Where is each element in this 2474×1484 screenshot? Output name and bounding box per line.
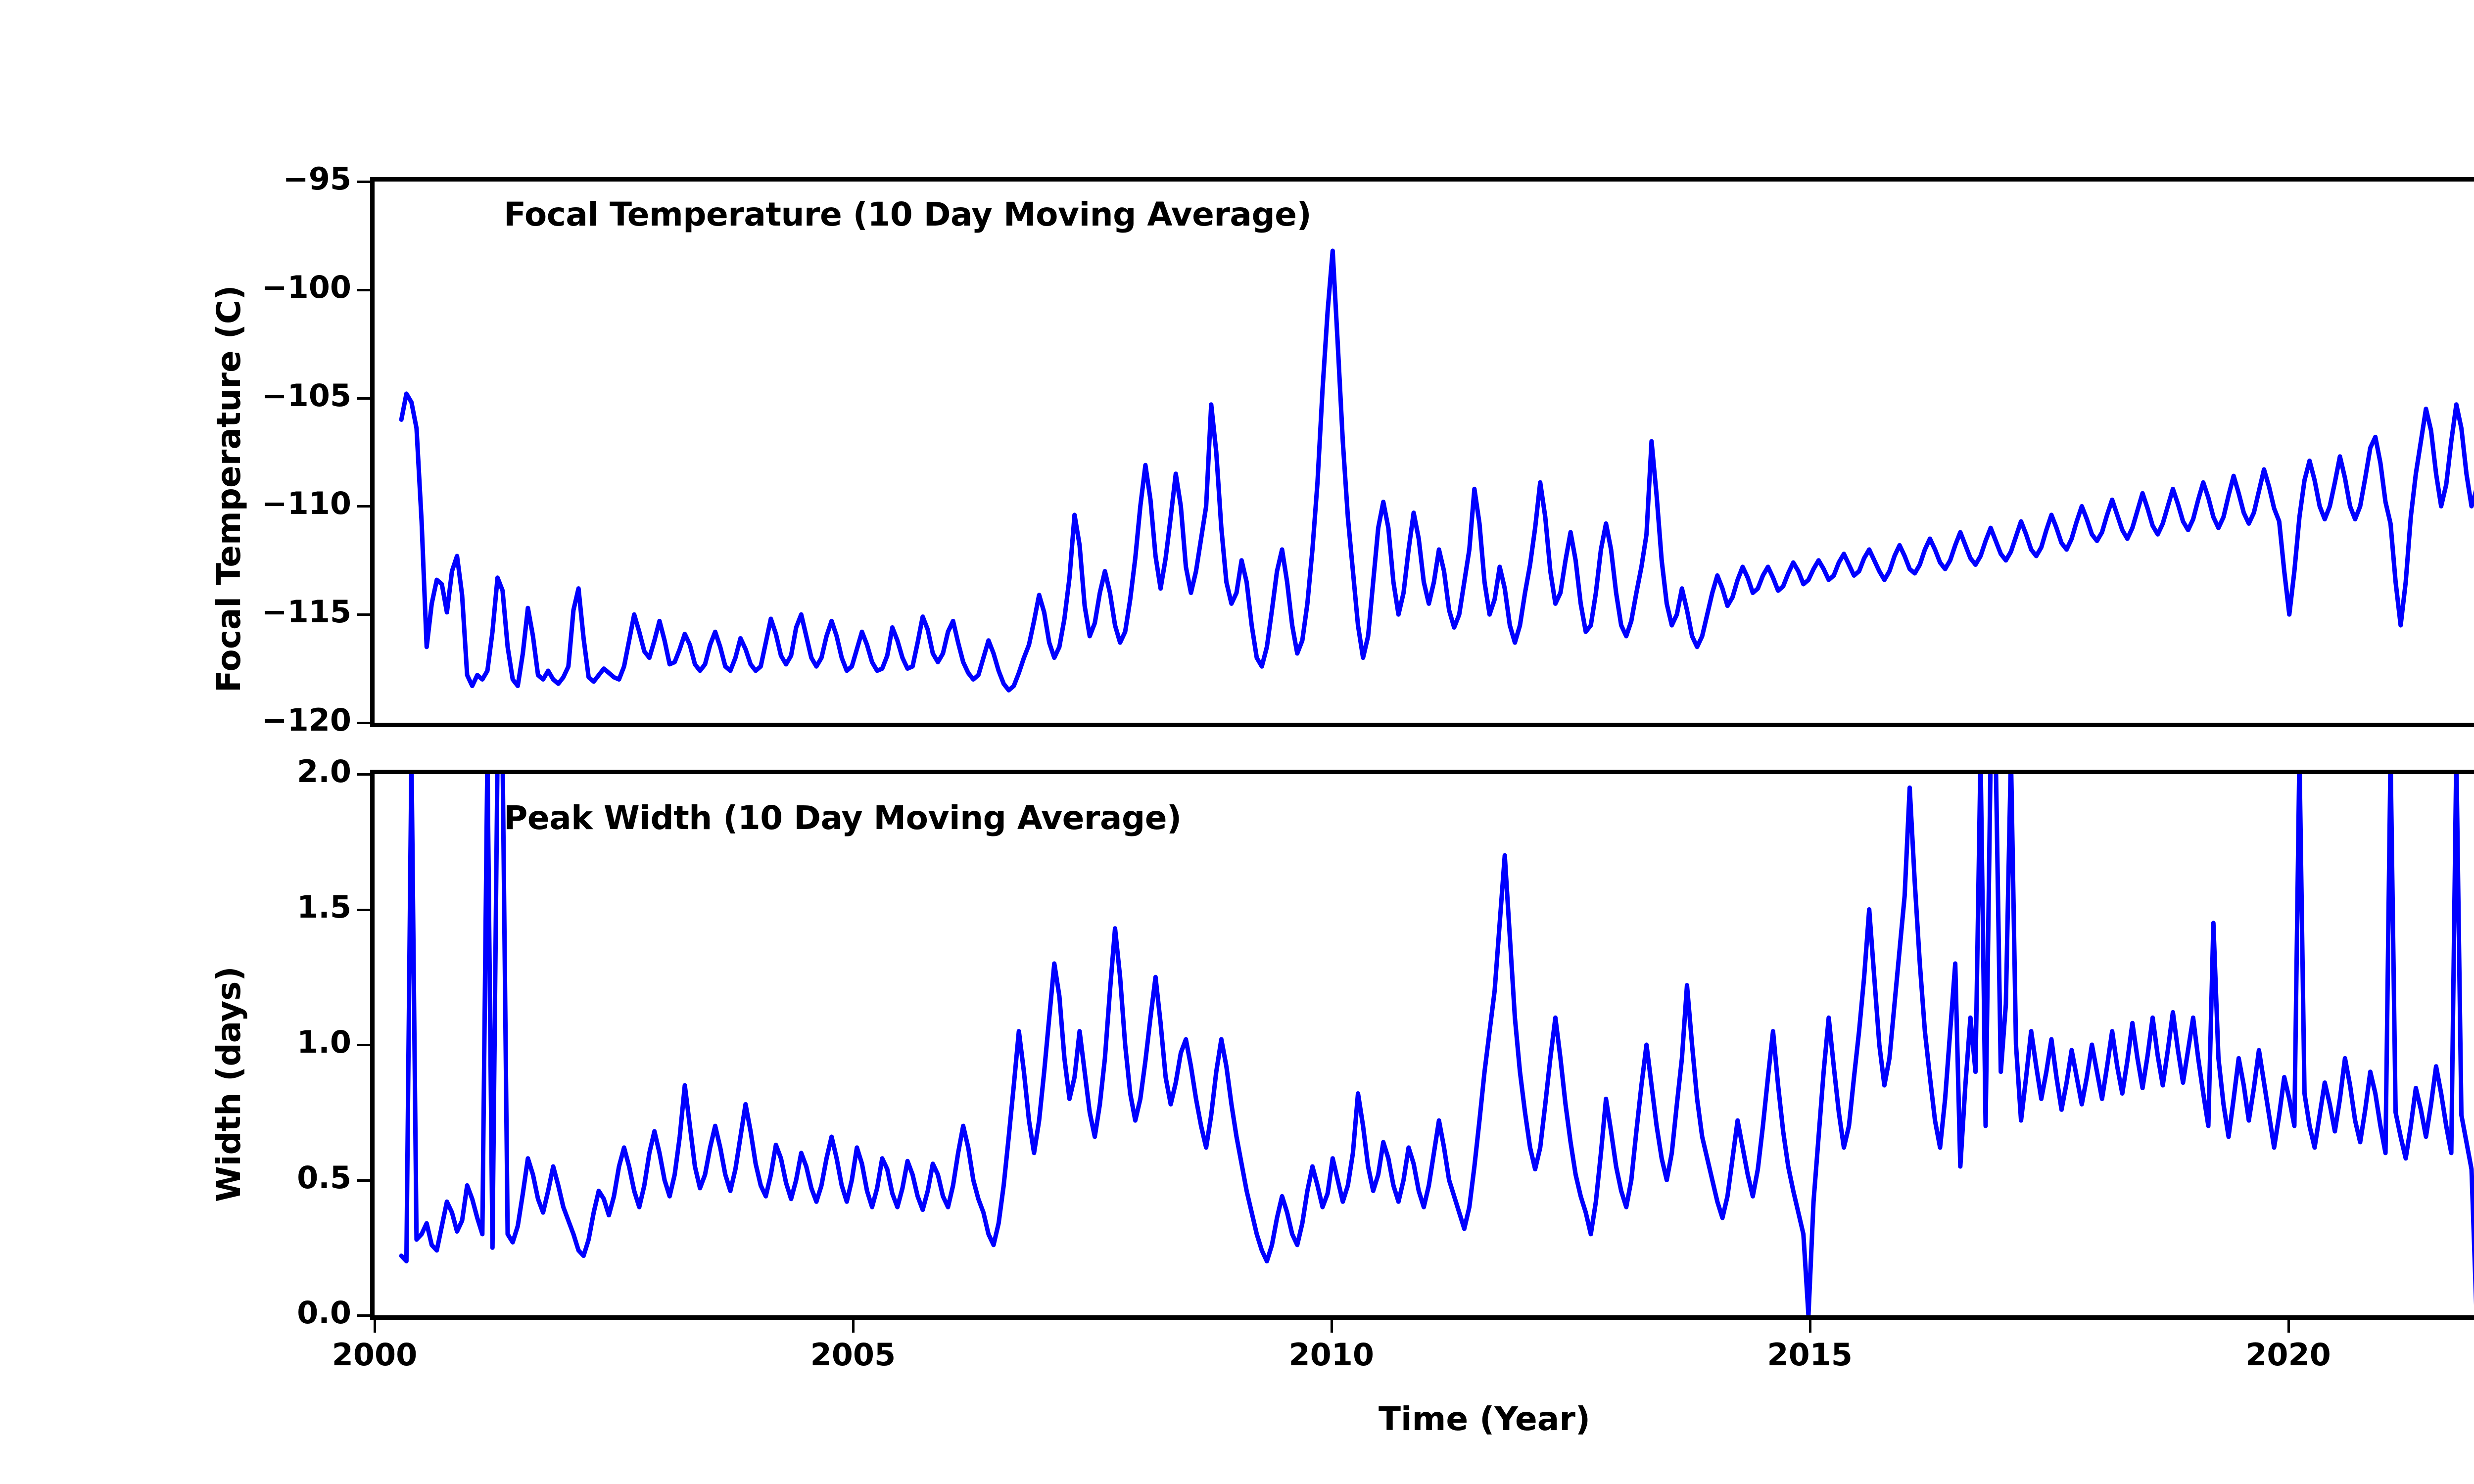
ytick-mark-focal-temperature-5	[357, 722, 370, 724]
xtick-mark-4	[2287, 1320, 2290, 1333]
ytick-label-peak-width-2: 1.0	[0, 1024, 351, 1060]
ytick-label-focal-temperature-3: −110	[0, 485, 351, 521]
panel-title-focal-temperature: Focal Temperature (10 Day Moving Average…	[504, 195, 1311, 233]
ytick-label-focal-temperature-1: −100	[0, 269, 351, 305]
xtick-mark-0	[374, 1320, 376, 1333]
xtick-label-0: 2000	[332, 1337, 418, 1373]
data-line	[401, 774, 2474, 1315]
figure-root: Focal Temperature (10 Day Moving Average…	[0, 0, 2474, 1484]
ytick-label-focal-temperature-2: −105	[0, 377, 351, 414]
ytick-mark-peak-width-3	[357, 1179, 370, 1182]
ytick-label-peak-width-1: 1.5	[0, 889, 351, 925]
ytick-mark-focal-temperature-4	[357, 613, 370, 616]
xtick-label-3: 2015	[1767, 1337, 1853, 1373]
xaxis-label: Time (Year)	[1379, 1400, 1590, 1438]
data-line	[401, 251, 2474, 690]
ytick-label-peak-width-3: 0.5	[0, 1159, 351, 1196]
ytick-mark-focal-temperature-1	[357, 289, 370, 291]
panel-title-peak-width: Peak Width (10 Day Moving Average)	[504, 799, 1182, 837]
xtick-label-2: 2010	[1288, 1337, 1374, 1373]
ytick-mark-peak-width-4	[357, 1314, 370, 1317]
ytick-mark-peak-width-0	[357, 773, 370, 776]
xtick-mark-1	[852, 1320, 855, 1333]
ytick-mark-peak-width-2	[357, 1044, 370, 1046]
focal-temperature-line-chart	[375, 182, 2474, 723]
ytick-mark-focal-temperature-3	[357, 505, 370, 508]
ytick-label-focal-temperature-5: −120	[0, 702, 351, 738]
plot-panel-peak-width	[370, 770, 2474, 1320]
ytick-label-peak-width-4: 0.0	[0, 1295, 351, 1331]
ytick-mark-focal-temperature-0	[357, 181, 370, 183]
ytick-mark-peak-width-1	[357, 909, 370, 911]
ytick-label-focal-temperature-0: −95	[0, 161, 351, 197]
xtick-label-1: 2005	[810, 1337, 896, 1373]
ytick-label-peak-width-0: 2.0	[0, 753, 351, 789]
xtick-label-4: 2020	[2245, 1337, 2331, 1373]
ytick-label-focal-temperature-4: −115	[0, 594, 351, 630]
plot-panel-focal-temperature	[370, 177, 2474, 727]
xtick-mark-3	[1809, 1320, 1811, 1333]
peak-width-line-chart	[375, 774, 2474, 1315]
ytick-mark-focal-temperature-2	[357, 397, 370, 400]
xtick-mark-2	[1331, 1320, 1333, 1333]
